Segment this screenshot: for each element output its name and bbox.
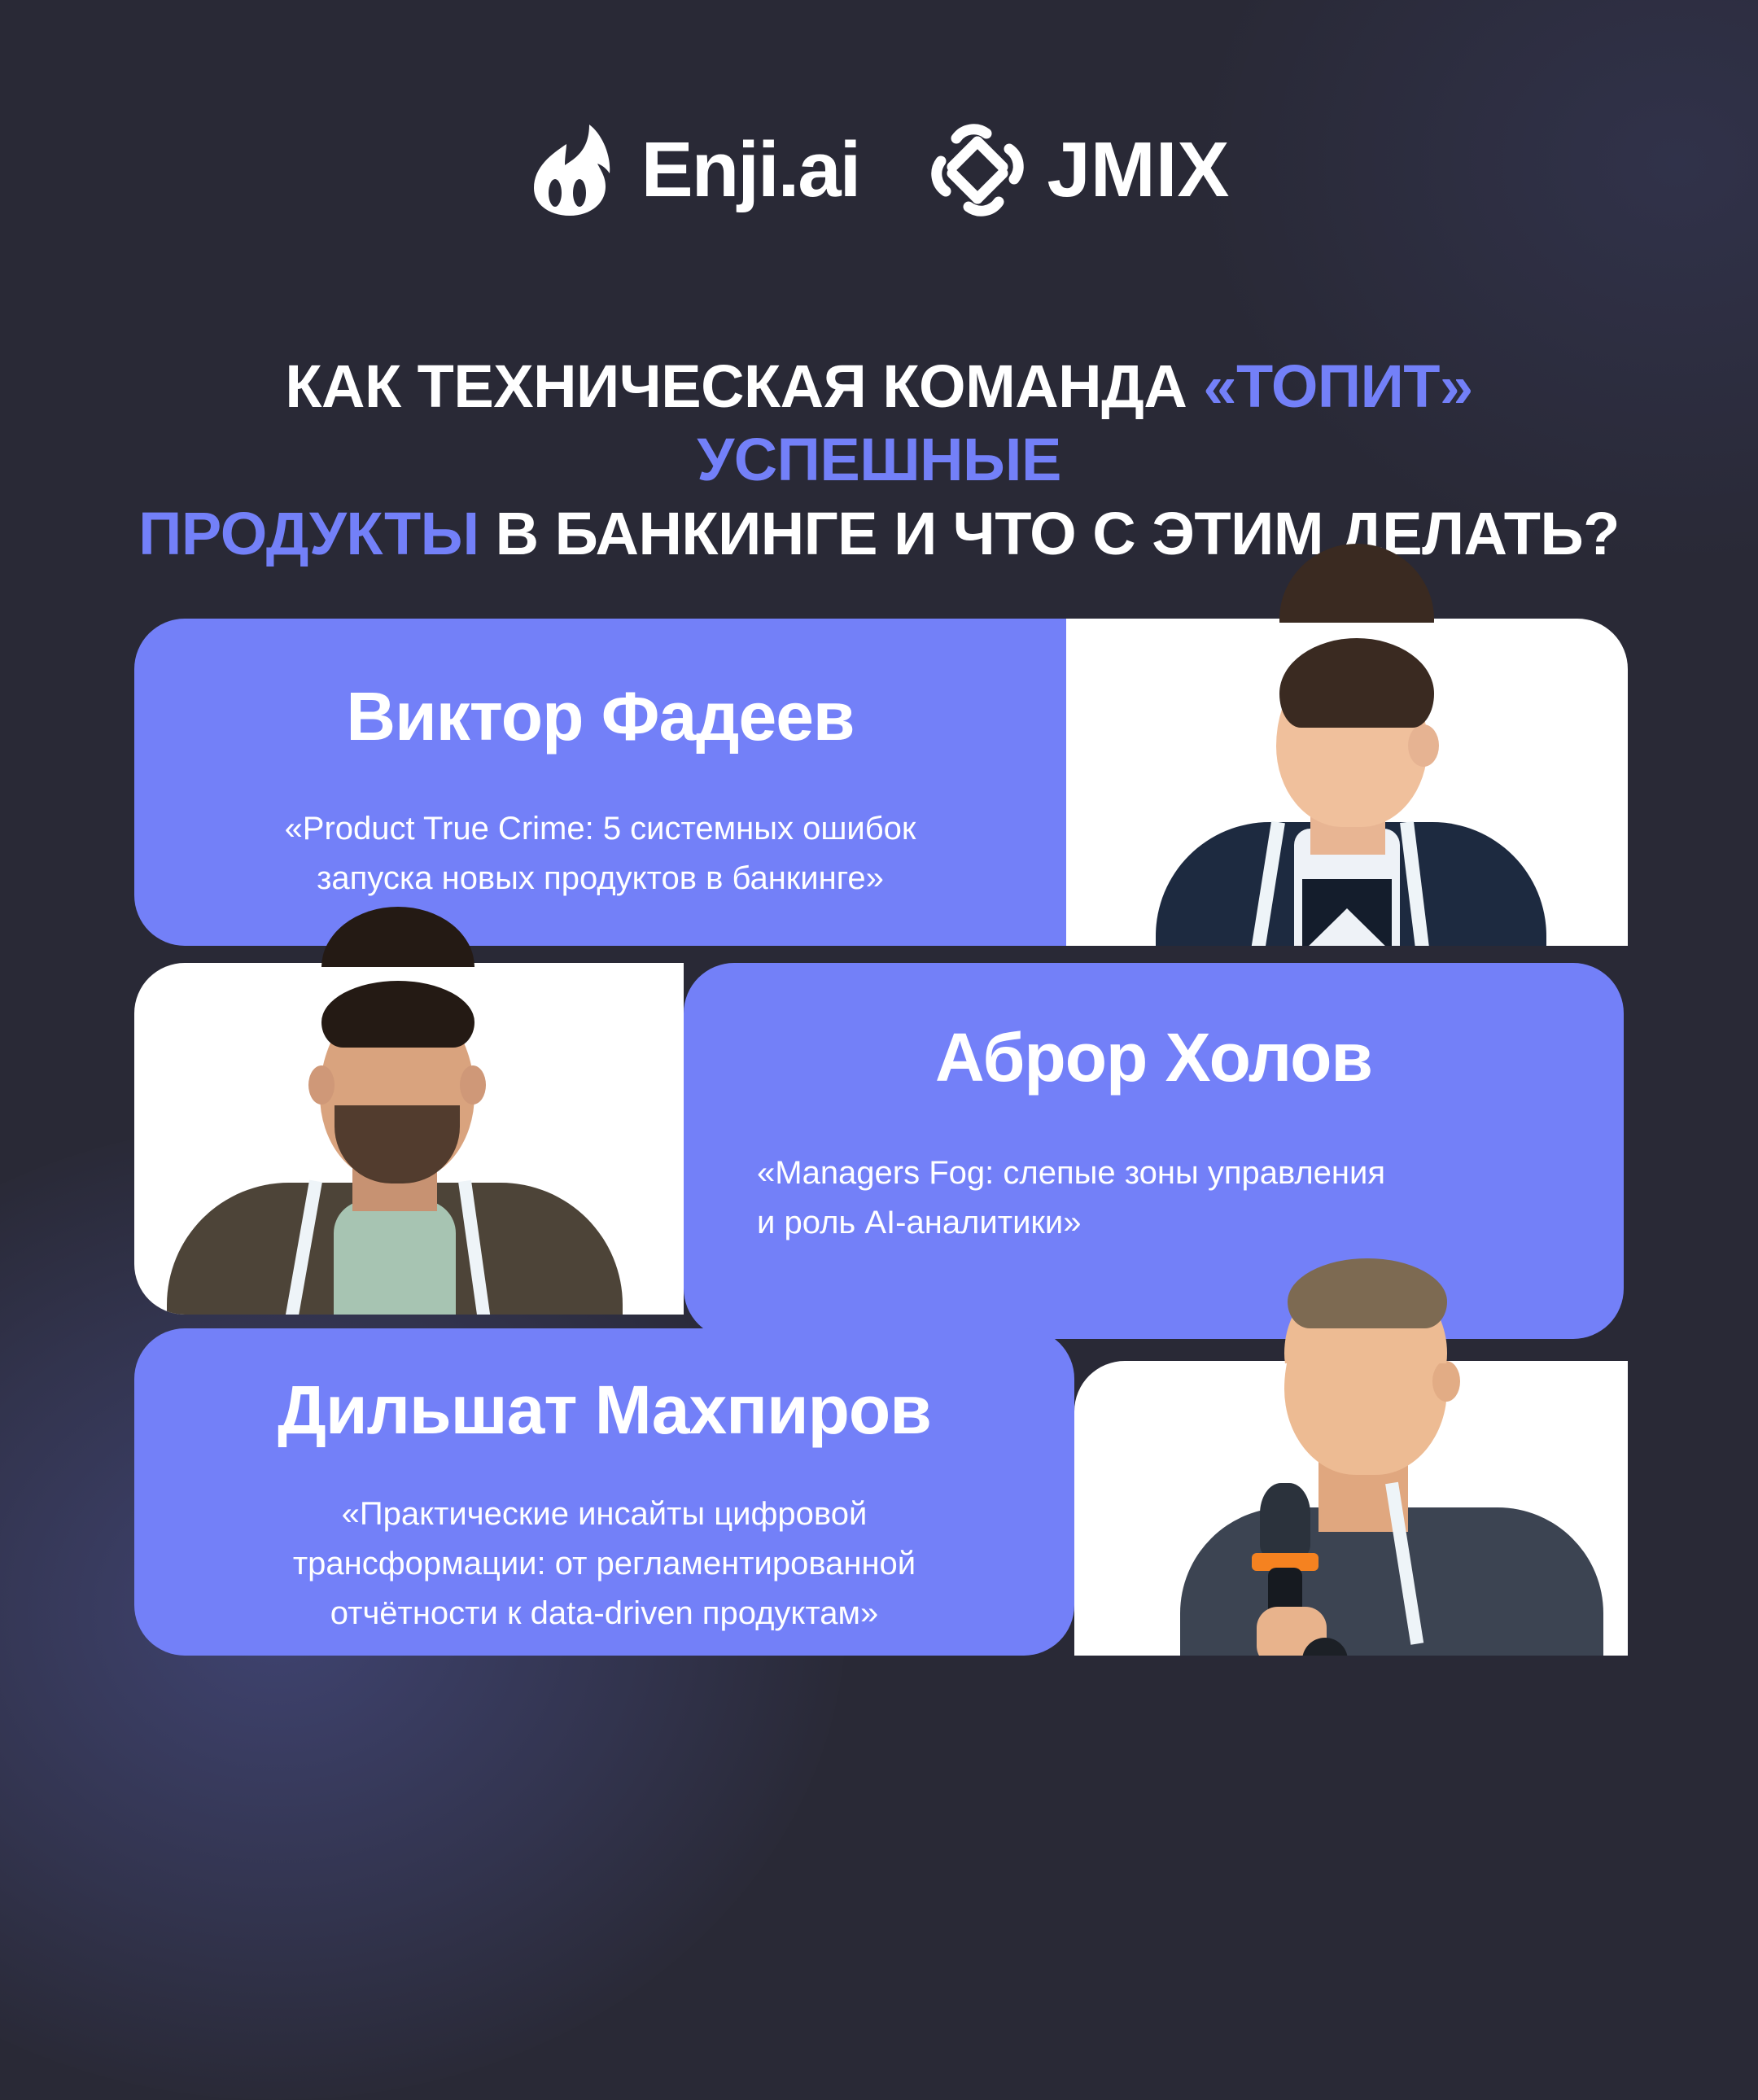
speaker-1-photo-overflow [1058,529,1628,623]
photo-tshirt [334,1201,456,1315]
photo-ear [1408,724,1439,767]
photo-hair-top [321,907,474,967]
speaker-3-talk-line-1: «Практические инсайты цифровой [134,1490,1074,1539]
speaker-3-photo-overflow [1074,1221,1628,1363]
speaker-1-talk-line-1: «Product True Crime: 5 системных ошибок [134,804,1066,854]
abror-kholov-photo [134,963,684,1315]
viktor-fadeev-photo [1058,619,1628,946]
speaker-1-talk: «Product True Crime: 5 системных ошибок … [134,804,1066,903]
photo-ear-right [460,1065,486,1105]
speaker-card-list: Виктор Фадеев «Product True Crime: 5 сис… [0,0,1758,1758]
speaker-3-photo-panel [1074,1361,1628,1656]
speaker-3-talk-line-2: трансформации: от регламентированной [134,1539,1074,1589]
speaker-2-photo-panel [134,963,684,1315]
dilshat-makhpirov-photo [1074,1361,1628,1656]
photo-hair [1279,638,1434,728]
speaker-3-text-panel: Дильшат Махпиров «Практические инсайты ц… [134,1328,1074,1656]
speaker-1-photo-panel [1058,619,1628,946]
microphone-head-icon [1260,1483,1310,1556]
photo-hair [321,981,474,1048]
speaker-3-talk: «Практические инсайты цифровой трансформ… [134,1490,1074,1638]
photo-ear [1432,1361,1460,1402]
photo-hair-top [1288,1258,1447,1328]
photo-ear-left [308,1065,335,1105]
photo-head [1284,1361,1447,1475]
speaker-3-name: Дильшат Махпиров [134,1376,1074,1444]
speaker-2-name: Аброр Холов [684,1023,1624,1092]
photo-hair-top [1279,544,1434,623]
speaker-2-photo-overflow [134,895,684,967]
speaker-3-talk-line-3: отчётности к data-driven продуктам» [134,1589,1074,1638]
speaker-1-name: Виктор Фадеев [134,682,1066,750]
speaker-2-talk-line-1: «Managers Fog: слепые зоны управления [757,1148,1624,1198]
